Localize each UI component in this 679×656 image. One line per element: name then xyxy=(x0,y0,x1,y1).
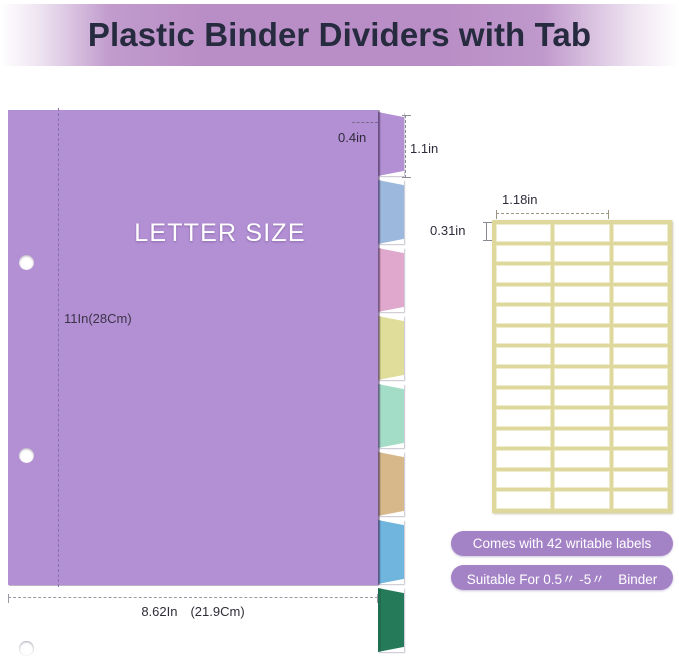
feature-pill-binder: Suitable For 0.5〃 -5〃 Binder xyxy=(451,565,673,590)
writable-label-cell xyxy=(613,450,668,468)
writable-label-cell xyxy=(496,245,551,263)
writable-label-cell xyxy=(496,409,551,427)
divider-width-dimension-line xyxy=(8,597,378,598)
writable-label-cell xyxy=(613,306,668,324)
binder-hole-punch-1 xyxy=(19,255,34,270)
writable-label-cell xyxy=(496,224,551,242)
tab-tan-face xyxy=(378,452,404,516)
writable-label-cell xyxy=(496,286,551,304)
tab-dark-green xyxy=(378,588,404,652)
writable-label-cell xyxy=(554,450,609,468)
tab-blue xyxy=(378,180,404,244)
tab-tan xyxy=(378,452,404,516)
tab-pink xyxy=(378,248,404,312)
binder-hole-punch-3 xyxy=(19,641,34,656)
writable-label-cell xyxy=(496,327,551,345)
tab-mint xyxy=(378,384,404,448)
writable-label-sheet xyxy=(492,220,672,513)
writable-label-cell xyxy=(496,491,551,509)
tab-sky-blue-face xyxy=(378,520,404,584)
label-width-dimension-label: 1.18in xyxy=(502,192,537,207)
letter-size-label: LETTER SIZE xyxy=(110,219,330,248)
writable-label-cell xyxy=(496,265,551,283)
writable-label-cell xyxy=(554,306,609,324)
writable-label-cell xyxy=(496,430,551,448)
writable-label-cell xyxy=(613,245,668,263)
tab-dark-green-face xyxy=(378,588,404,652)
writable-label-cell xyxy=(496,450,551,468)
tab-dark-green-edge xyxy=(378,588,381,652)
writable-label-cell xyxy=(613,491,668,509)
writable-label-cell xyxy=(554,265,609,283)
writable-label-cell xyxy=(613,409,668,427)
tab-blue-face xyxy=(378,180,404,244)
tab-height-dimension-label: 1.1in xyxy=(410,141,438,156)
tab-height-dimension-line xyxy=(405,115,406,178)
writable-label-cell xyxy=(613,265,668,283)
writable-label-cell xyxy=(496,471,551,489)
writable-label-cell xyxy=(554,245,609,263)
label-width-dimension-line xyxy=(496,213,609,214)
writable-label-cell xyxy=(496,347,551,365)
tab-yellow xyxy=(378,316,404,380)
label-height-dimension-line xyxy=(486,222,487,241)
divider-width-dimension-label: 8.62In (21.9Cm) xyxy=(8,601,378,620)
writable-label-cell xyxy=(496,389,551,407)
writable-label-cell xyxy=(613,389,668,407)
writable-label-cell xyxy=(554,471,609,489)
tab-mint-face xyxy=(378,384,404,448)
writable-label-cell xyxy=(613,327,668,345)
writable-label-cell xyxy=(613,286,668,304)
writable-label-cell xyxy=(554,368,609,386)
writable-label-cell xyxy=(613,430,668,448)
fold-dashed-line xyxy=(58,108,59,587)
label-height-dimension-label: 0.31in xyxy=(430,223,465,238)
tab-purple-face xyxy=(378,112,404,176)
writable-label-cell xyxy=(554,327,609,345)
writable-label-cell xyxy=(613,347,668,365)
tab-purple xyxy=(378,112,404,176)
writable-label-cell xyxy=(554,430,609,448)
divider-sheet xyxy=(8,110,378,585)
writable-label-cell xyxy=(554,491,609,509)
divider-figure: LETTER SIZE 11In(28Cm) 8.62In (21.9Cm) 0… xyxy=(0,0,460,617)
tab-yellow-face xyxy=(378,316,404,380)
writable-label-cell xyxy=(554,389,609,407)
writable-label-cell xyxy=(554,409,609,427)
writable-label-cell xyxy=(613,471,668,489)
tab-sky-blue xyxy=(378,520,404,584)
writable-label-cell xyxy=(554,347,609,365)
divider-height-dimension-label: 11In(28Cm) xyxy=(64,311,132,326)
writable-label-cell xyxy=(554,286,609,304)
feature-pill-labels: Comes with 42 writable labels xyxy=(451,531,673,556)
tab-pink-face xyxy=(378,248,404,312)
writable-label-cell xyxy=(554,224,609,242)
binder-hole-punch-2 xyxy=(19,448,34,463)
writable-label-cell xyxy=(496,368,551,386)
tab-width-dimension-label: 0.4in xyxy=(338,130,366,145)
writable-label-cell xyxy=(613,368,668,386)
tab-width-dimension-line xyxy=(352,122,378,123)
writable-label-cell xyxy=(613,224,668,242)
writable-label-cell xyxy=(496,306,551,324)
